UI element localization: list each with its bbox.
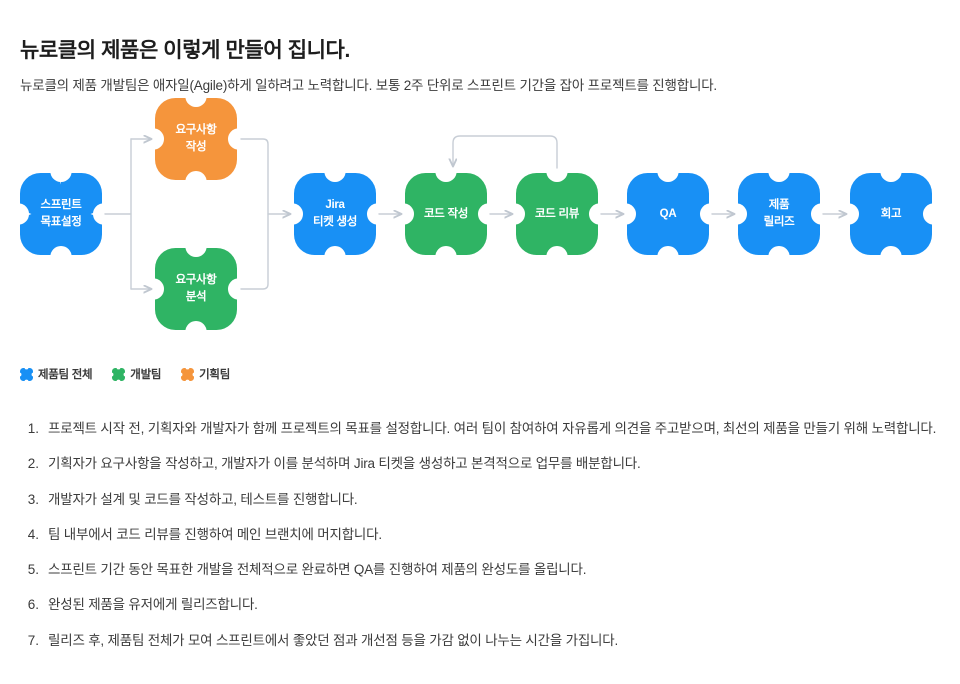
diagram-node-sprint-goal[interactable]: 스프린트 목표설정 [20,173,102,255]
node-label: 요구사항 작성 [175,122,216,155]
diagram-node-jira-ticket[interactable]: Jira 티켓 생성 [294,173,376,255]
step-text: 스프린트 기간 동안 목표한 개발을 전체적으로 완료하면 QA를 진행하여 제… [48,559,940,581]
diagram-node-requirements-analyze[interactable]: 요구사항 분석 [155,248,237,330]
step-text: 릴리즈 후, 제품팀 전체가 모여 스프린트에서 좋았던 점과 개선점 등을 가… [48,630,940,652]
list-item: 7. 릴리즈 후, 제품팀 전체가 모여 스프린트에서 좋았던 점과 개선점 등… [20,630,940,652]
diagram-node-code-review[interactable]: 코드 리뷰 [516,173,598,255]
list-item: 4. 팀 내부에서 코드 리뷰를 진행하여 메인 브랜치에 머지합니다. [20,524,940,546]
legend-item-product-team: 제품팀 전체 [20,366,92,382]
page-title: 뉴로클의 제품은 이렇게 만들어 집니다. [20,34,350,64]
diagram-node-retrospective[interactable]: 회고 [850,173,932,255]
cloud-swatch-icon [20,368,33,381]
diagram-legend: 제품팀 전체 개발팀 기획팀 [20,366,230,382]
diagram-node-qa[interactable]: QA [627,173,709,255]
node-label: Jira 티켓 생성 [313,197,357,230]
legend-item-planning-team: 기획팀 [181,366,230,382]
step-number: 5. [20,559,48,581]
step-text: 개발자가 설계 및 코드를 작성하고, 테스트를 진행합니다. [48,489,940,511]
cloud-swatch-icon [181,368,194,381]
step-number: 6. [20,594,48,616]
list-item: 1. 프로젝트 시작 전, 기획자와 개발자가 함께 프로젝트의 목표를 설정합… [20,418,940,440]
node-label: 제품 릴리즈 [764,197,795,230]
step-text: 팀 내부에서 코드 리뷰를 진행하여 메인 브랜치에 머지합니다. [48,524,940,546]
node-label: QA [660,206,677,223]
node-label: 스프린트 목표설정 [40,197,81,230]
legend-label: 기획팀 [199,366,230,382]
legend-item-dev-team: 개발팀 [112,366,161,382]
step-text: 기획자가 요구사항을 작성하고, 개발자가 이를 분석하며 Jira 티켓을 생… [48,453,940,475]
legend-label: 개발팀 [130,366,161,382]
step-text: 프로젝트 시작 전, 기획자와 개발자가 함께 프로젝트의 목표를 설정합니다.… [48,418,940,440]
node-label: 코드 리뷰 [535,206,579,223]
list-item: 3. 개발자가 설계 및 코드를 작성하고, 테스트를 진행합니다. [20,489,940,511]
step-number: 4. [20,524,48,546]
step-number: 1. [20,418,48,440]
process-flow-diagram: 스프린트 목표설정 요구사항 작성 요구사항 분석 [0,88,960,348]
page-root: 뉴로클의 제품은 이렇게 만들어 집니다. 뉴로클의 제품 개발팀은 애자일(A… [0,0,960,684]
list-item: 2. 기획자가 요구사항을 작성하고, 개발자가 이를 분석하며 Jira 티켓… [20,453,940,475]
node-label: 회고 [881,206,902,223]
step-number: 3. [20,489,48,511]
cloud-swatch-icon [112,368,125,381]
list-item: 6. 완성된 제품을 유저에게 릴리즈합니다. [20,594,940,616]
diagram-node-requirements-write[interactable]: 요구사항 작성 [155,98,237,180]
diagram-node-product-release[interactable]: 제품 릴리즈 [738,173,820,255]
process-steps-list: 1. 프로젝트 시작 전, 기획자와 개발자가 함께 프로젝트의 목표를 설정합… [20,418,940,665]
step-number: 7. [20,630,48,652]
step-number: 2. [20,453,48,475]
node-label: 요구사항 분석 [175,272,216,305]
node-label: 코드 작성 [424,206,468,223]
legend-label: 제품팀 전체 [38,366,92,382]
list-item: 5. 스프린트 기간 동안 목표한 개발을 전체적으로 완료하면 QA를 진행하… [20,559,940,581]
diagram-node-code-write[interactable]: 코드 작성 [405,173,487,255]
step-text: 완성된 제품을 유저에게 릴리즈합니다. [48,594,940,616]
